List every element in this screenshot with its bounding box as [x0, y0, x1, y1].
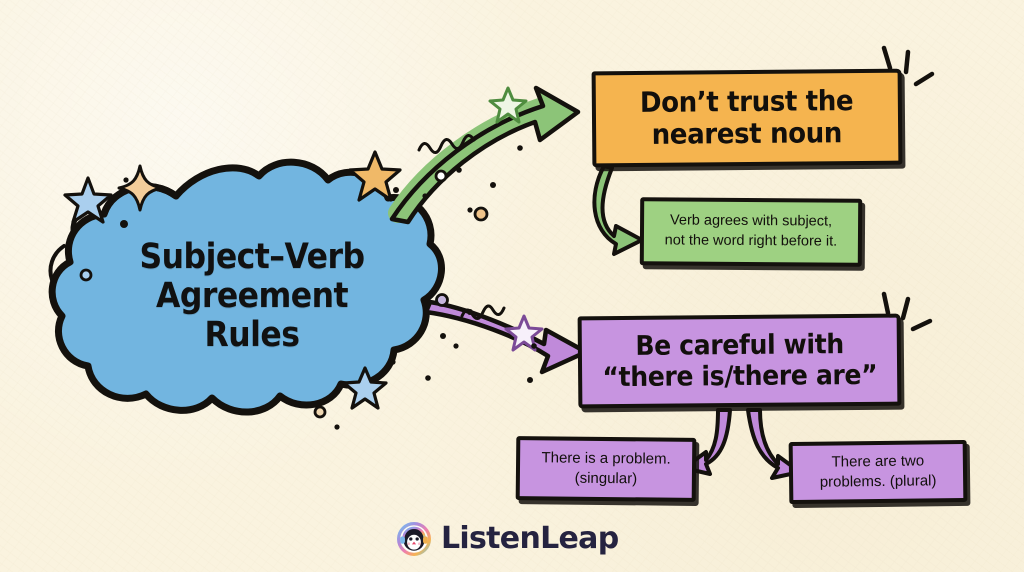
example-text-singular: There is a problem. (singular)	[541, 449, 671, 490]
rule-headline-line1: Don’t trust the	[640, 85, 854, 119]
example-card-singular[interactable]: There is a problem. (singular)	[516, 436, 697, 502]
orange-sparkle-icon	[119, 166, 161, 210]
infographic-canvas: Subject–Verb Agreement Rules Don’t trust…	[0, 0, 1024, 572]
detail-text-verb-agrees: Verb agrees with subject, not the word r…	[665, 212, 838, 252]
detail-line2: not the word right before it.	[665, 231, 838, 252]
rule-headline-line1: Be careful with	[602, 328, 877, 362]
detail-card-verb-agrees[interactable]: Verb agrees with subject, not the word r…	[640, 197, 862, 267]
example-line2: (singular)	[541, 468, 670, 489]
cloud-accent-strokes	[51, 200, 97, 280]
rule-headline-line2: “there is/there are”	[602, 360, 877, 394]
green-star-icon	[490, 88, 526, 122]
example-line2: problems. (plural)	[820, 471, 937, 492]
example-line1: There are two	[819, 451, 936, 472]
example-line1: There is a problem.	[541, 449, 670, 470]
arrow-to-rule-there-is	[426, 302, 586, 372]
purple-star-icon	[506, 316, 542, 350]
rule-headline-line2: nearest noun	[640, 117, 854, 151]
brand-logo: ListenLeap	[397, 521, 618, 556]
blue-star-small-icon	[344, 368, 386, 408]
orange-star-icon	[350, 152, 400, 200]
blue-star-icon	[65, 178, 111, 222]
penguin-headphones-icon	[397, 522, 431, 556]
squiggle-line-green	[419, 135, 474, 152]
rule-headline-there-is: Be careful with “there is/there are”	[602, 328, 877, 393]
detail-line1: Verb agrees with subject,	[665, 212, 838, 233]
cloud-topic-line1: Subject–Verb	[108, 238, 396, 277]
example-card-plural[interactable]: There are two problems. (plural)	[789, 440, 968, 504]
rule-card-nearest-noun[interactable]: Don’t trust the nearest noun	[592, 69, 903, 168]
cloud-topic-line2: Agreement Rules	[108, 277, 396, 355]
example-text-plural: There are two problems. (plural)	[819, 451, 936, 492]
arrow-to-detail-verb-agrees	[594, 166, 642, 254]
brand-name: ListenLeap	[441, 521, 618, 556]
squiggle-line-purple	[462, 306, 504, 319]
cloud-topic-title: Subject–Verb Agreement Rules	[108, 238, 396, 356]
rule-headline-nearest-noun: Don’t trust the nearest noun	[640, 85, 854, 151]
arrow-to-rule-nearest-noun	[392, 88, 578, 222]
rule-card-there-is-there-are[interactable]: Be careful with “there is/there are”	[578, 314, 902, 409]
